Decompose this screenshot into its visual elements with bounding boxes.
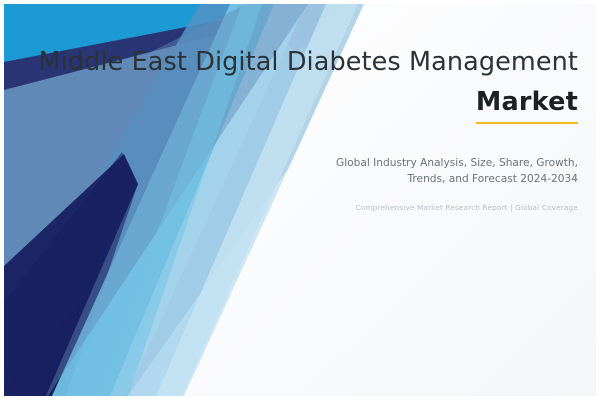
report-tagline: Comprehensive Market Research Report | G… [278, 203, 578, 213]
cover-canvas: Middle East Digital Diabetes Management … [4, 4, 596, 396]
report-subtitle: Global Industry Analysis, Size, Share, G… [316, 156, 578, 188]
page-title-accent: Market [476, 88, 578, 124]
cover-text-content: Middle East Digital Diabetes Management … [4, 4, 596, 396]
report-cover: Middle East Digital Diabetes Management … [0, 0, 600, 400]
page-title: Middle East Digital Diabetes Management [4, 48, 578, 77]
